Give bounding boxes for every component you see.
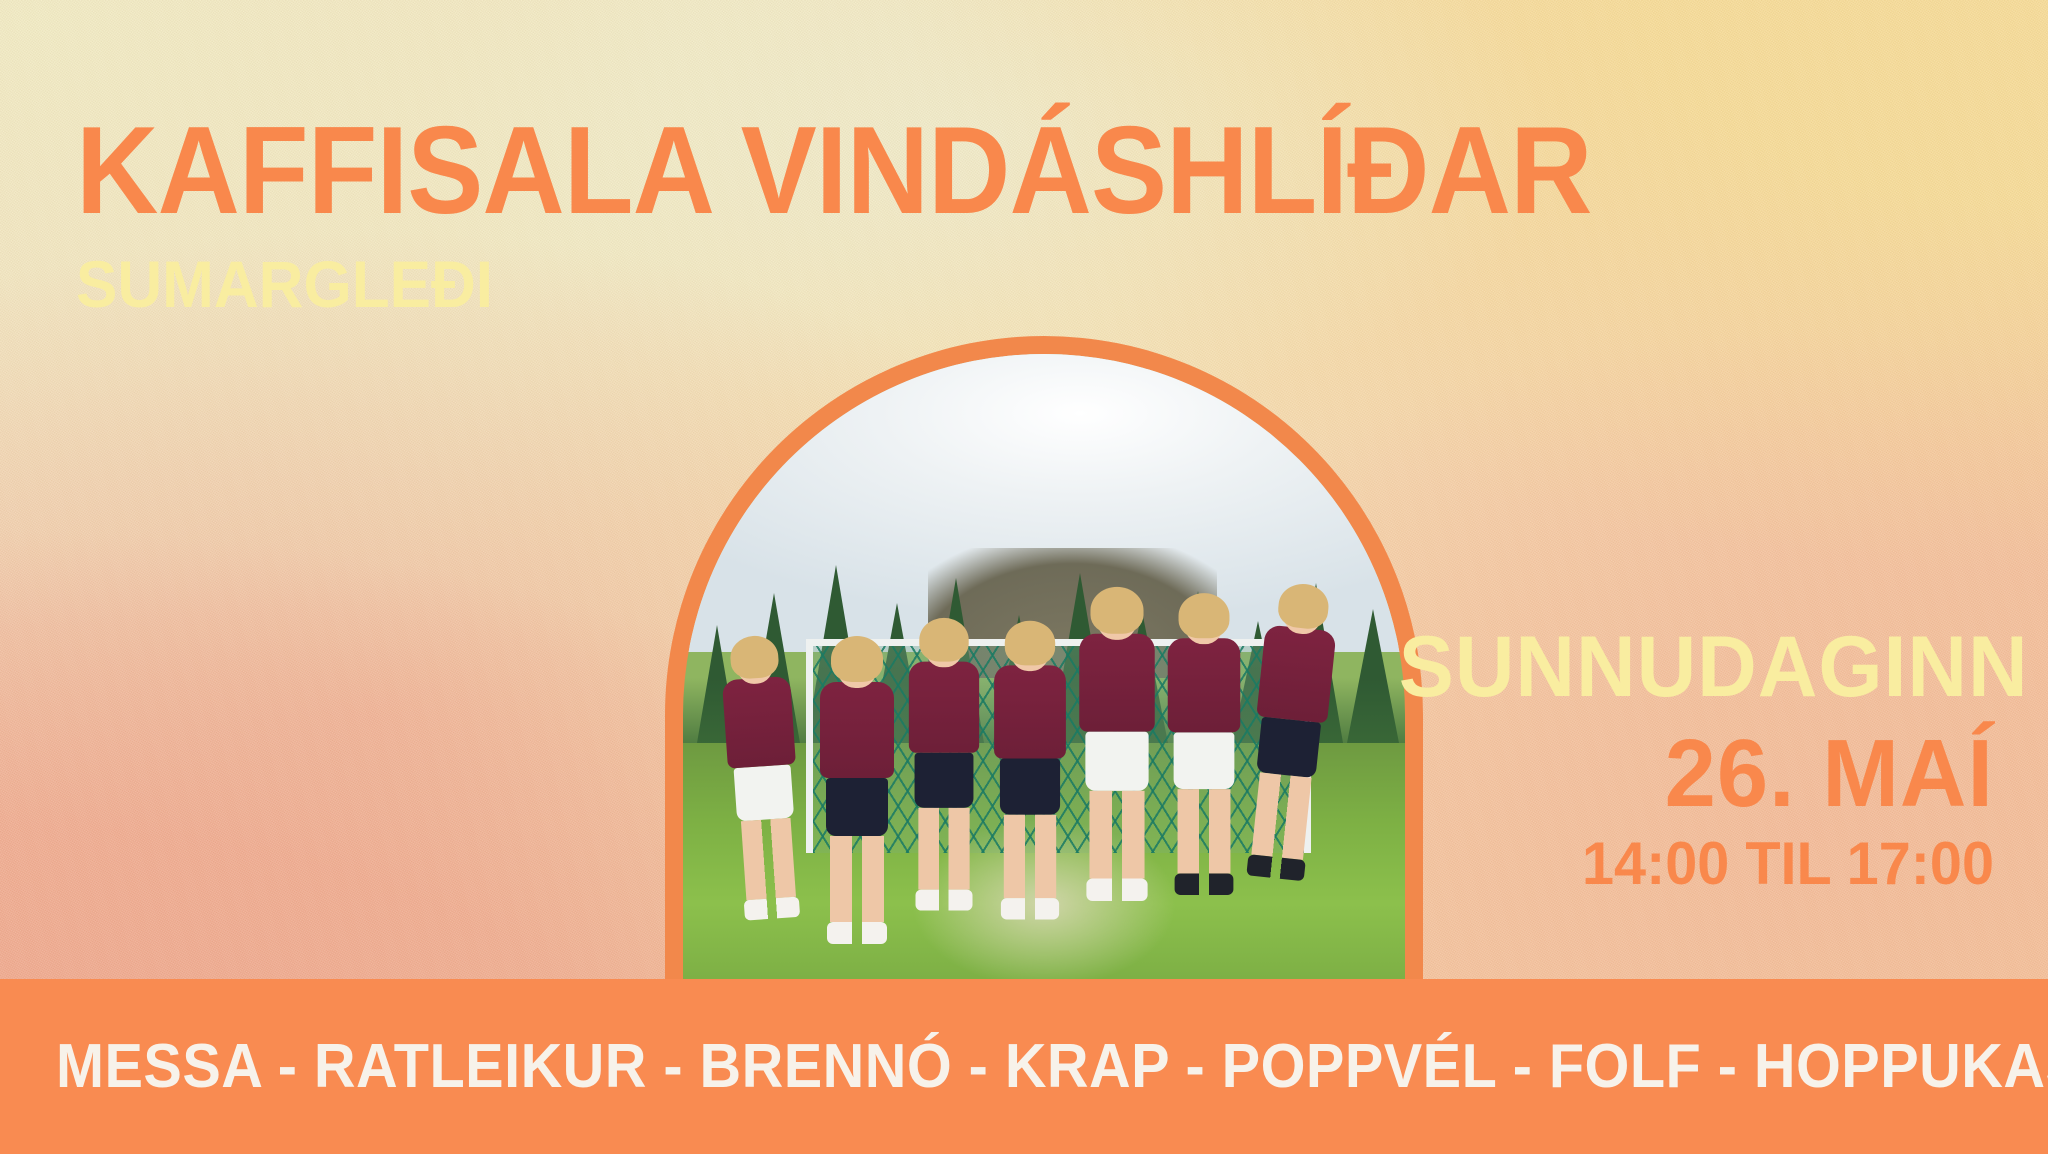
photo-person (1079, 595, 1154, 901)
event-date-block: SUNNUDAGINN 26. MAÍ 14:00 TIL 17:00 (1374, 624, 1994, 894)
headline-block: KAFFISALA VINDÁSHLÍÐAR SUMARGLEÐI (76, 118, 1496, 317)
page-subtitle: SUMARGLEÐI (76, 251, 1411, 317)
photo-person (909, 625, 979, 910)
poster-canvas: KAFFISALA VINDÁSHLÍÐAR SUMARGLEÐI (0, 0, 2048, 1154)
activities-banner: MESSA - RATLEIKUR - BRENNÓ - KRAP - POPP… (0, 979, 2048, 1154)
activities-list: MESSA - RATLEIKUR - BRENNÓ - KRAP - POPP… (56, 1031, 2048, 1102)
event-time: 14:00 TIL 17:00 (1399, 834, 1994, 894)
event-date: 26. MAÍ (1399, 726, 1994, 822)
photo-person (820, 644, 894, 944)
photo-person (1167, 601, 1240, 895)
photo-arch-frame (665, 336, 1423, 1002)
photo-person (995, 629, 1067, 920)
event-weekday: SUNNUDAGINN (1399, 624, 1994, 710)
page-title: KAFFISALA VINDÁSHLÍÐAR (76, 118, 1382, 225)
event-photo (683, 354, 1405, 1002)
